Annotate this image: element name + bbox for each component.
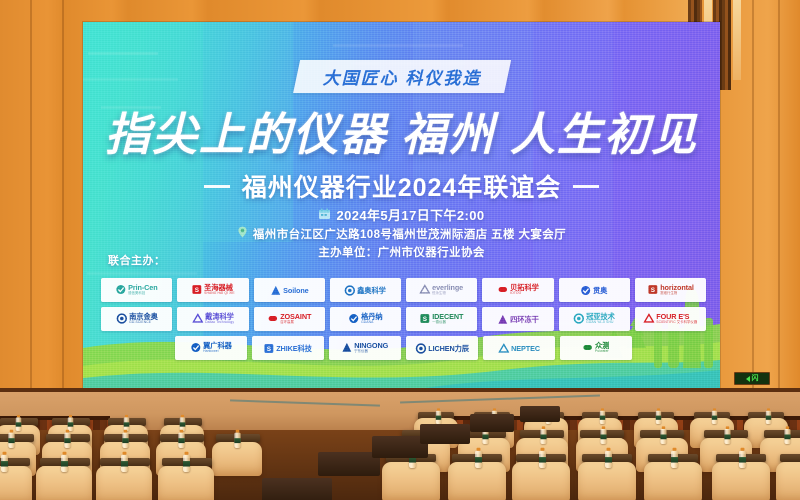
stage-block <box>470 414 514 432</box>
wall-light-column <box>733 0 741 80</box>
sponsor-logo-subtext: Pulwater <box>595 350 609 353</box>
water-bottle <box>656 408 661 424</box>
sponsor-logo-name: 鑫奥科学 <box>357 286 386 293</box>
sponsor-logo-subtext: GDANA <box>361 321 382 324</box>
led-stage-screen: 大国匠心 科仪我造 指尖上的仪器 福州 人生初见 福州仪器行业2024年联谊会 <box>83 22 720 390</box>
sponsor-logo-name: LICHEN力辰 <box>428 344 469 351</box>
conference-hall-room: 大国匠心 科仪我造 指尖上的仪器 福州 人生初见 福州仪器行业2024年联谊会 <box>0 0 800 500</box>
seat-table <box>780 454 800 462</box>
event-date-row: 2024年5月17日下午2:00 <box>83 206 720 226</box>
sponsor-logo-mark <box>498 343 509 354</box>
sponsor-logo-name: 众测 <box>595 342 609 349</box>
water-bottle <box>661 426 667 444</box>
sponsor-logo-mark <box>270 285 281 296</box>
water-bottle <box>436 408 441 424</box>
stage-block <box>318 452 380 476</box>
sponsor-logo: 四环冻干 <box>482 307 553 331</box>
wall-seam <box>30 0 32 420</box>
stage-block <box>262 478 332 500</box>
tagline-banner: 大国匠心 科仪我造 <box>293 60 511 93</box>
water-bottle <box>64 430 70 448</box>
water-bottle <box>121 452 128 472</box>
sponsor-logo-name: 南京金奥 <box>129 313 158 320</box>
wall-seam <box>62 0 64 420</box>
sponsor-logo-mark <box>192 314 203 325</box>
seat-table <box>0 434 34 442</box>
sponsor-logo-subtext: GD-SCIENCE <box>129 321 158 324</box>
sponsor-logo-mark <box>573 314 584 325</box>
sponsor-logo-mark <box>348 314 359 325</box>
sponsor-logo-name: NEPTEC <box>511 344 540 351</box>
sponsor-logo-subtext: 赛维行生物 <box>660 292 694 295</box>
sponsor-logo-row-3: 翼广科器HankoweiSZHIKE科技NINGONG宁东仪器LICHEN力辰N… <box>101 336 706 360</box>
sponsor-logo-name: 贯奥 <box>593 286 607 293</box>
dash-left-icon <box>204 185 230 188</box>
sponsor-logo: FOUR E'SSCIENTIFIC 艾卡科学仪器 <box>635 307 706 331</box>
emergency-exit-sign: 闪 <box>734 372 770 385</box>
sponsor-logo: 戴涛科学Daitao Technology <box>177 307 248 331</box>
sponsor-logo: LICHEN力辰 <box>406 336 478 360</box>
event-organizer-text: 主办单位：广州市仪器行业协会 <box>318 245 485 263</box>
water-bottle <box>712 408 717 424</box>
sponsor-logo-mark <box>190 343 201 354</box>
water-bottle <box>183 452 190 472</box>
sponsor-logo-row-1: Prin-Cen德信昊科技S圣海器械SHANG HAI QI XIESoilon… <box>101 278 706 302</box>
sponsor-logo-subtext: 宁东仪器 <box>354 350 388 353</box>
sponsor-logo: 翼广科器Hankowei <box>175 336 247 360</box>
water-bottle <box>8 430 14 448</box>
sponsor-logo-subtext: SCIENTIFIC 艾卡科学仪器 <box>656 321 697 324</box>
water-bottle <box>122 430 128 448</box>
sponsor-logo-mark <box>644 314 655 325</box>
sponsor-logo: 众测Pulwater <box>560 336 632 360</box>
water-bottle <box>785 426 791 444</box>
stage-block <box>520 406 560 422</box>
wall-seam <box>778 0 780 420</box>
sponsor-logo-mark <box>345 285 356 296</box>
sponsor-logo-mark: S <box>647 285 658 296</box>
sponsor-logo-subtext: 一德仪器 <box>432 321 463 324</box>
sponsor-logo-mark <box>420 285 431 296</box>
water-bottle <box>234 430 240 448</box>
sponsor-logo-mark: S <box>191 285 202 296</box>
water-bottle <box>601 426 607 444</box>
sponsor-logo-name: ZHIKE科技 <box>277 344 313 351</box>
sponsor-logo-name: 戴涛科学 <box>205 313 234 320</box>
water-bottle <box>178 430 184 448</box>
svg-text:S: S <box>650 287 654 294</box>
water-bottle <box>124 415 130 431</box>
sponsor-logo-mark <box>116 285 127 296</box>
sponsor-logo: ZOSAINT召环高展 <box>254 307 325 331</box>
svg-text:S: S <box>267 345 271 352</box>
sponsor-logo-subtext: 德信昊科技 <box>128 292 157 295</box>
sponsor-logo-mark <box>582 343 593 354</box>
sponsor-logo: everlinge恒永生物 <box>406 278 477 302</box>
sponsor-logo-subtext: SHANG HAI QI XIE <box>204 292 235 295</box>
svg-text:S: S <box>194 287 198 294</box>
sponsor-logo-subtext: GUAN YA JI SHU <box>586 321 615 324</box>
sponsor-logo-name: 圣海器械 <box>204 284 235 291</box>
water-bottle <box>180 415 186 431</box>
sponsor-logo: NEPTEC <box>483 336 555 360</box>
sponsor-logo: SIDECENT一德仪器 <box>406 307 477 331</box>
sponsor-logo: Shorizontal赛维行生物 <box>635 278 706 302</box>
water-bottle <box>539 448 546 468</box>
exit-arrow-icon <box>746 376 750 382</box>
sponsor-logo-subtext: Hankowei <box>203 350 232 353</box>
water-bottle <box>68 415 74 431</box>
sponsor-logo-name: 贝拓科学 <box>510 284 539 291</box>
event-location-text: 福州市台江区广达路108号福州世茂洲际酒店 五楼 大宴会厅 <box>253 227 566 245</box>
event-subtitle: 福州仪器行业2024年联谊会 <box>242 168 562 204</box>
audience-chair <box>776 462 800 500</box>
water-bottle <box>541 426 547 444</box>
sponsor-logo-name: 格丹纳 <box>361 313 382 320</box>
sponsor-logo-name: Soilone <box>283 286 308 293</box>
sponsor-logo-subtext: IOTOO <box>510 292 539 295</box>
event-headline: 指尖上的仪器 福州 人生初见 <box>83 98 720 163</box>
water-bottle <box>739 448 746 468</box>
sponsor-logo-subtext: Daitao Technology <box>205 321 234 324</box>
event-date-text: 2024年5月17日下午2:00 <box>336 206 484 226</box>
svg-text:S: S <box>423 316 427 323</box>
coorganizer-label: 联合主办： <box>108 252 166 268</box>
water-bottle <box>725 426 731 444</box>
sponsor-logo-name: 翼广科器 <box>203 342 232 349</box>
calendar-icon <box>318 206 331 226</box>
sponsor-logo: Prin-Cen德信昊科技 <box>101 278 172 302</box>
sponsor-logo-mark: S <box>264 343 275 354</box>
sponsor-logo-mark <box>116 314 127 325</box>
sponsor-logo: 南京金奥GD-SCIENCE <box>101 307 172 331</box>
sponsor-logo-mark <box>267 314 278 325</box>
sponsor-logo: 贯奥 <box>559 278 630 302</box>
water-bottle <box>766 408 771 424</box>
sponsor-logo-mark <box>497 314 508 325</box>
sponsor-logo: 贝拓科学IOTOO <box>482 278 553 302</box>
sponsor-logo-name: 冠亚技术 <box>586 313 615 320</box>
sponsor-logo: S圣海器械SHANG HAI QI XIE <box>177 278 248 302</box>
sponsor-logo-name: 四环冻干 <box>510 315 539 322</box>
tagline-text: 大国匠心 科仪我造 <box>322 64 481 89</box>
sponsor-logo-mark <box>342 343 353 354</box>
event-subtitle-row: 福州仪器行业2024年联谊会 <box>83 168 720 204</box>
water-bottle <box>600 408 605 424</box>
exit-sign-label: 闪 <box>752 375 759 382</box>
sponsor-logo-mark <box>415 343 426 354</box>
water-bottle <box>61 452 68 472</box>
sponsor-logo-grid: Prin-Cen德信昊科技S圣海器械SHANG HAI QI XIESoilon… <box>101 278 706 360</box>
event-organizer-row: 主办单位：广州市仪器行业协会 <box>83 245 720 263</box>
seat-table <box>764 430 800 438</box>
wall-seam <box>752 0 754 420</box>
event-meta: 2024年5月17日下午2:00 福州市台江区广达路108号福州世茂洲际酒店 五… <box>83 206 720 263</box>
water-bottle <box>605 448 612 468</box>
event-location-row: 福州市台江区广达路108号福州世茂洲际酒店 五楼 大宴会厅 <box>83 226 720 245</box>
sponsor-logo-mark: S <box>420 314 431 325</box>
sponsor-logo-mark <box>497 285 508 296</box>
sponsor-logo: NINGONG宁东仪器 <box>329 336 401 360</box>
location-pin-icon <box>237 226 248 245</box>
sponsor-logo: 格丹纳GDANA <box>330 307 401 331</box>
sponsor-logo-mark <box>581 285 592 296</box>
water-bottle <box>16 415 22 431</box>
water-bottle <box>475 448 482 468</box>
screen-content: 大国匠心 科仪我造 指尖上的仪器 福州 人生初见 福州仪器行业2024年联谊会 <box>83 22 720 390</box>
sponsor-logo-subtext: 恒永生物 <box>433 292 464 295</box>
sponsor-logo: SZHIKE科技 <box>252 336 324 360</box>
stage-block <box>420 424 470 444</box>
sponsor-logo: 鑫奥科学 <box>330 278 401 302</box>
sponsor-logo-subtext: 召环高展 <box>280 321 311 324</box>
sponsor-logo-row-2: 南京金奥GD-SCIENCE戴涛科学Daitao TechnologyZOSAI… <box>101 307 706 331</box>
water-bottle <box>671 448 678 468</box>
water-bottle <box>1 452 8 472</box>
dash-right-icon <box>573 185 599 188</box>
sponsor-logo: Soilone <box>254 278 325 302</box>
sponsor-logo: 冠亚技术GUAN YA JI SHU <box>559 307 630 331</box>
